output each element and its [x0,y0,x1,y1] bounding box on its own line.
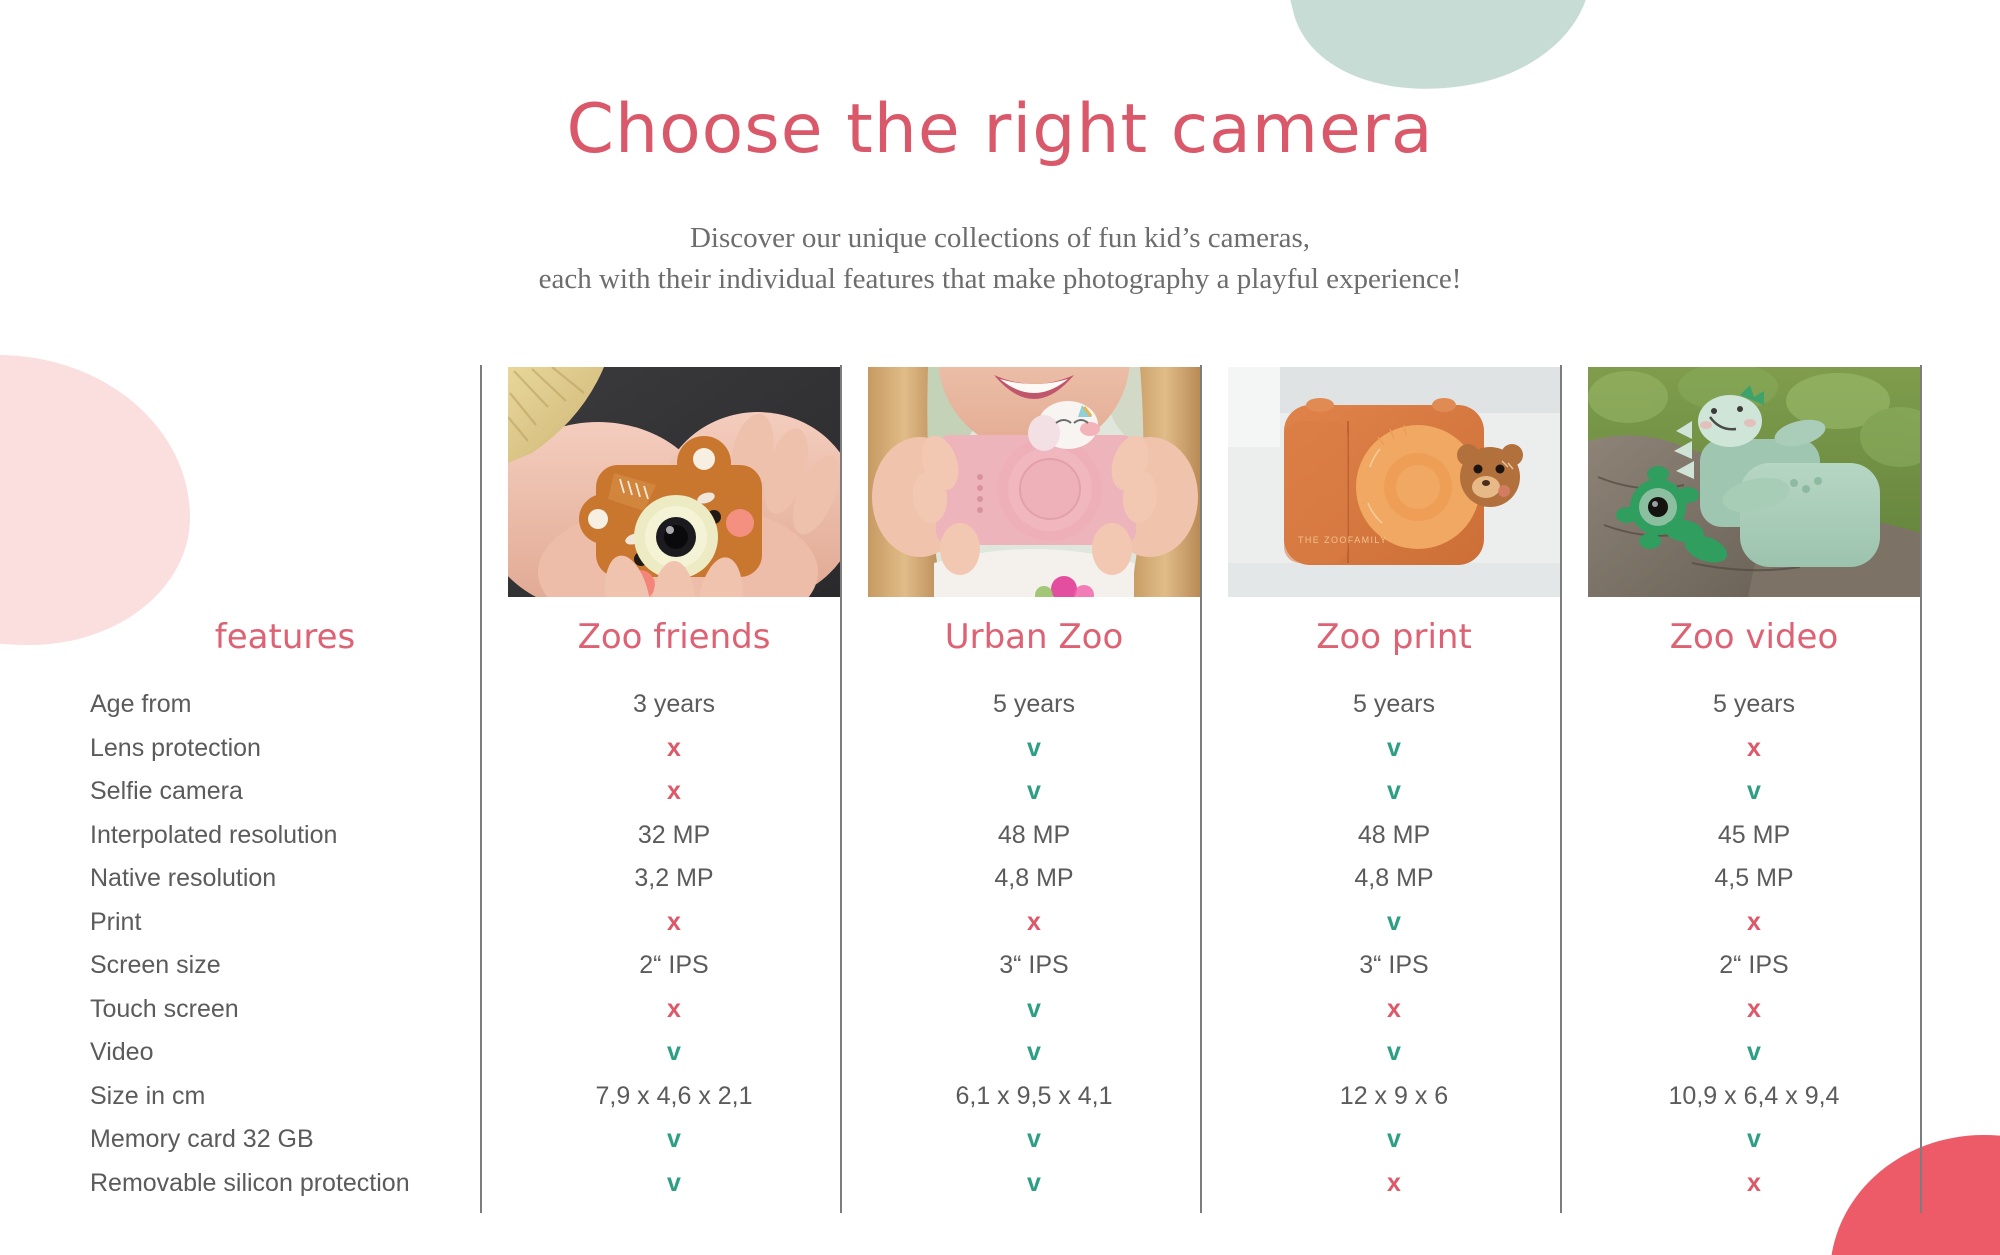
feature-label: Memory card 32 GB [90,1125,480,1154]
no-mark-icon: x [1588,734,1920,763]
feature-value: 3 years [508,690,840,719]
page-title: Choose the right camera [0,96,2000,164]
yes-mark-icon: v [868,1038,1200,1067]
table-row: Size in cm7,9 x 4,6 x 2,16,1 x 9,5 x 4,1… [90,1075,1950,1119]
slide-canvas: Choose the right camera Discover our uni… [0,0,2000,1255]
column-header-zoo-video: Zoo video [1588,620,1920,654]
no-mark-icon: x [1588,995,1920,1024]
yes-mark-icon: v [1228,1038,1560,1067]
feature-value: 5 years [868,690,1200,719]
features-column-header: features [90,620,480,654]
feature-value: 3“ IPS [1228,951,1560,980]
no-mark-icon: x [868,908,1200,937]
feature-label: Native resolution [90,864,480,893]
table-row: Videovvvv [90,1031,1950,1075]
subtitle-line-2: each with their individual features that… [0,259,2000,300]
feature-label: Touch screen [90,995,480,1024]
feature-label: Video [90,1038,480,1067]
feature-label: Removable silicon protection [90,1169,480,1198]
feature-value: 32 MP [508,821,840,850]
table-row: Touch screenxvxx [90,988,1950,1032]
feature-value: 7,9 x 4,6 x 2,1 [508,1082,840,1111]
column-header-zoo-print: Zoo print [1228,620,1560,654]
yes-mark-icon: v [508,1038,840,1067]
yes-mark-icon: v [868,777,1200,806]
feature-rows: Age from3 years5 years5 years5 yearsLens… [90,683,1950,1205]
feature-label: Interpolated resolution [90,821,480,850]
feature-value: 3,2 MP [508,864,840,893]
yes-mark-icon: v [508,1169,840,1198]
feature-value: 5 years [1588,690,1920,719]
page-subtitle: Discover our unique collections of fun k… [0,218,2000,300]
no-mark-icon: x [1228,995,1560,1024]
table-row: Interpolated resolution32 MP48 MP48 MP45… [90,814,1950,858]
feature-value: 48 MP [868,821,1200,850]
yes-mark-icon: v [508,1125,840,1154]
table-row: Screen size2“ IPS3“ IPS3“ IPS2“ IPS [90,944,1950,988]
table-row: Age from3 years5 years5 years5 years [90,683,1950,727]
no-mark-icon: x [508,908,840,937]
yes-mark-icon: v [868,1169,1200,1198]
no-mark-icon: x [1228,1169,1560,1198]
feature-value: 2“ IPS [1588,951,1920,980]
no-mark-icon: x [508,777,840,806]
feature-label: Lens protection [90,734,480,763]
feature-value: 4,8 MP [868,864,1200,893]
feature-value: 4,5 MP [1588,864,1920,893]
column-header-urban-zoo: Urban Zoo [868,620,1200,654]
table-row: Memory card 32 GBvvvv [90,1118,1950,1162]
no-mark-icon: x [1588,1169,1920,1198]
no-mark-icon: x [1588,908,1920,937]
yes-mark-icon: v [1588,1038,1920,1067]
table-row: Selfie cameraxvvv [90,770,1950,814]
feature-label: Age from [90,690,480,719]
no-mark-icon: x [508,995,840,1024]
yes-mark-icon: v [1588,777,1920,806]
column-header-zoo-friends: Zoo friends [508,620,840,654]
product-photo-zoo-print[interactable]: THE ZOOFAMILY [1228,367,1560,597]
no-mark-icon: x [508,734,840,763]
feature-label: Screen size [90,951,480,980]
product-photo-urban-zoo[interactable] [868,367,1200,597]
svg-text:THE ZOOFAMILY: THE ZOOFAMILY [1298,535,1388,545]
yes-mark-icon: v [1228,908,1560,937]
feature-value: 10,9 x 6,4 x 9,4 [1588,1082,1920,1111]
table-row: Lens protectionxvvx [90,727,1950,771]
yes-mark-icon: v [1588,1125,1920,1154]
table-row: Removable silicon protectionvvxx [90,1162,1950,1206]
comparison-table: THE ZOOFAMILY [90,365,1950,1213]
feature-value: 5 years [1228,690,1560,719]
feature-value: 3“ IPS [868,951,1200,980]
feature-label: Size in cm [90,1082,480,1111]
feature-label: Selfie camera [90,777,480,806]
subtitle-line-1: Discover our unique collections of fun k… [0,218,2000,259]
yes-mark-icon: v [868,734,1200,763]
product-photo-zoo-friends[interactable] [508,367,840,597]
yes-mark-icon: v [1228,777,1560,806]
feature-value: 45 MP [1588,821,1920,850]
feature-value: 48 MP [1228,821,1560,850]
feature-label: Print [90,908,480,937]
feature-value: 2“ IPS [508,951,840,980]
yes-mark-icon: v [868,1125,1200,1154]
yes-mark-icon: v [868,995,1200,1024]
yes-mark-icon: v [1228,734,1560,763]
product-photo-zoo-video[interactable] [1588,367,1920,597]
yes-mark-icon: v [1228,1125,1560,1154]
table-row: Native resolution3,2 MP4,8 MP4,8 MP4,5 M… [90,857,1950,901]
feature-value: 4,8 MP [1228,864,1560,893]
feature-value: 6,1 x 9,5 x 4,1 [868,1082,1200,1111]
table-row: Printxxvx [90,901,1950,945]
feature-value: 12 x 9 x 6 [1228,1082,1560,1111]
